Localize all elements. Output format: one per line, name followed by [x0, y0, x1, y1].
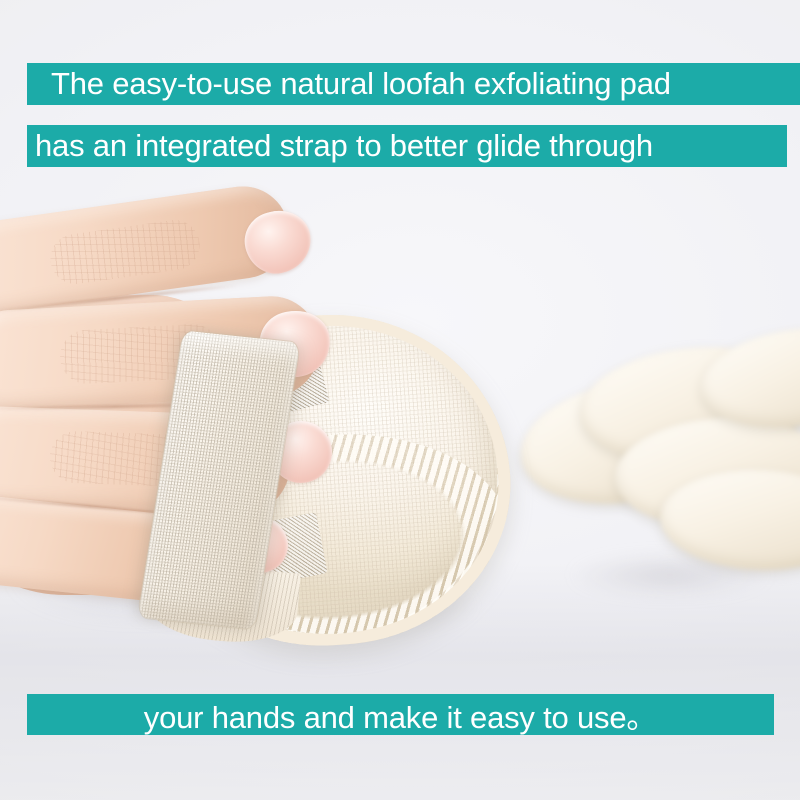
caption-text-line-3: your hands and make it easy to use。: [144, 694, 657, 735]
caption-banner-line-2: has an integrated strap to better glide …: [27, 125, 787, 167]
caption-text-line-2: has an integrated strap to better glide …: [35, 128, 653, 164]
caption-text-line-1: The easy-to-use natural loofah exfoliati…: [51, 66, 671, 102]
caption-banner-line-3: your hands and make it easy to use。: [27, 694, 774, 735]
hand-holding-loofah-pad: [0, 175, 560, 675]
product-image-canvas: The easy-to-use natural loofah exfoliati…: [0, 0, 800, 800]
caption-banner-line-1: The easy-to-use natural loofah exfoliati…: [27, 63, 800, 105]
